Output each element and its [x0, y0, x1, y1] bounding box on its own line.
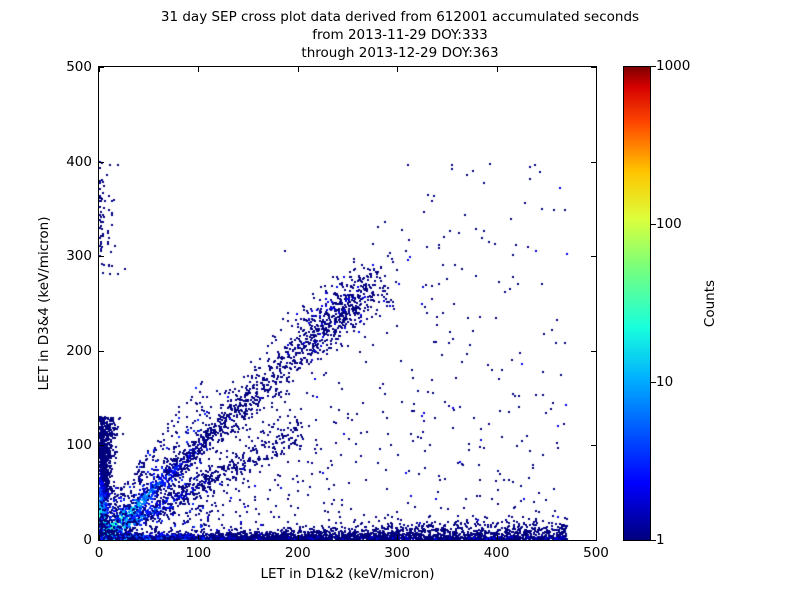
x-tick-mark [198, 67, 199, 72]
x-tick-mark [497, 535, 498, 540]
x-tick-label: 400 [484, 545, 510, 561]
y-tick-label: 400 [92, 154, 118, 170]
colorbar-tick-label: 10 [656, 374, 673, 390]
x-tick-mark [298, 535, 299, 540]
y-tick-label: 500 [92, 59, 118, 75]
chart-title: 31 day SEP cross plot data derived from … [0, 8, 800, 62]
x-tick-label: 300 [384, 545, 410, 561]
y-tick-mark [591, 351, 596, 352]
colorbar-tick-label: 1 [656, 532, 665, 548]
y-tick-label: 200 [92, 343, 118, 359]
x-tick-mark [198, 535, 199, 540]
y-tick-mark [591, 256, 596, 257]
y-tick-label: 300 [92, 248, 118, 264]
colorbar-title: Counts [700, 66, 720, 541]
x-tick-mark [397, 67, 398, 72]
y-tick-mark [591, 67, 596, 68]
x-tick-label: 500 [583, 545, 609, 561]
figure-canvas: 31 day SEP cross plot data derived from … [0, 0, 800, 600]
y-tick-mark [591, 445, 596, 446]
chart-title-line-2: from 2013-11-29 DOY:333 [0, 26, 800, 44]
x-tick-mark [397, 535, 398, 540]
y-axis-title: LET in D3&4 (keV/micron) [34, 66, 54, 541]
y-tick-label: 0 [92, 532, 101, 548]
colorbar-tick-label: 100 [656, 216, 682, 232]
x-tick-mark [596, 535, 597, 540]
y-tick-mark [591, 162, 596, 163]
chart-title-line-1: 31 day SEP cross plot data derived from … [0, 8, 800, 26]
x-tick-mark [596, 67, 597, 72]
y-tick-label: 100 [92, 437, 118, 453]
scatter-density-plot [99, 67, 596, 540]
x-tick-label: 100 [186, 545, 212, 561]
x-tick-mark [298, 67, 299, 72]
plot-area [98, 66, 597, 541]
y-tick-mark [591, 540, 596, 541]
x-tick-mark [497, 67, 498, 72]
colorbar-tick-label: 1000 [656, 58, 690, 74]
x-tick-label: 200 [285, 545, 311, 561]
colorbar-gradient [623, 66, 651, 541]
colorbar [623, 66, 651, 541]
x-axis-title: LET in D1&2 (keV/micron) [98, 566, 597, 582]
